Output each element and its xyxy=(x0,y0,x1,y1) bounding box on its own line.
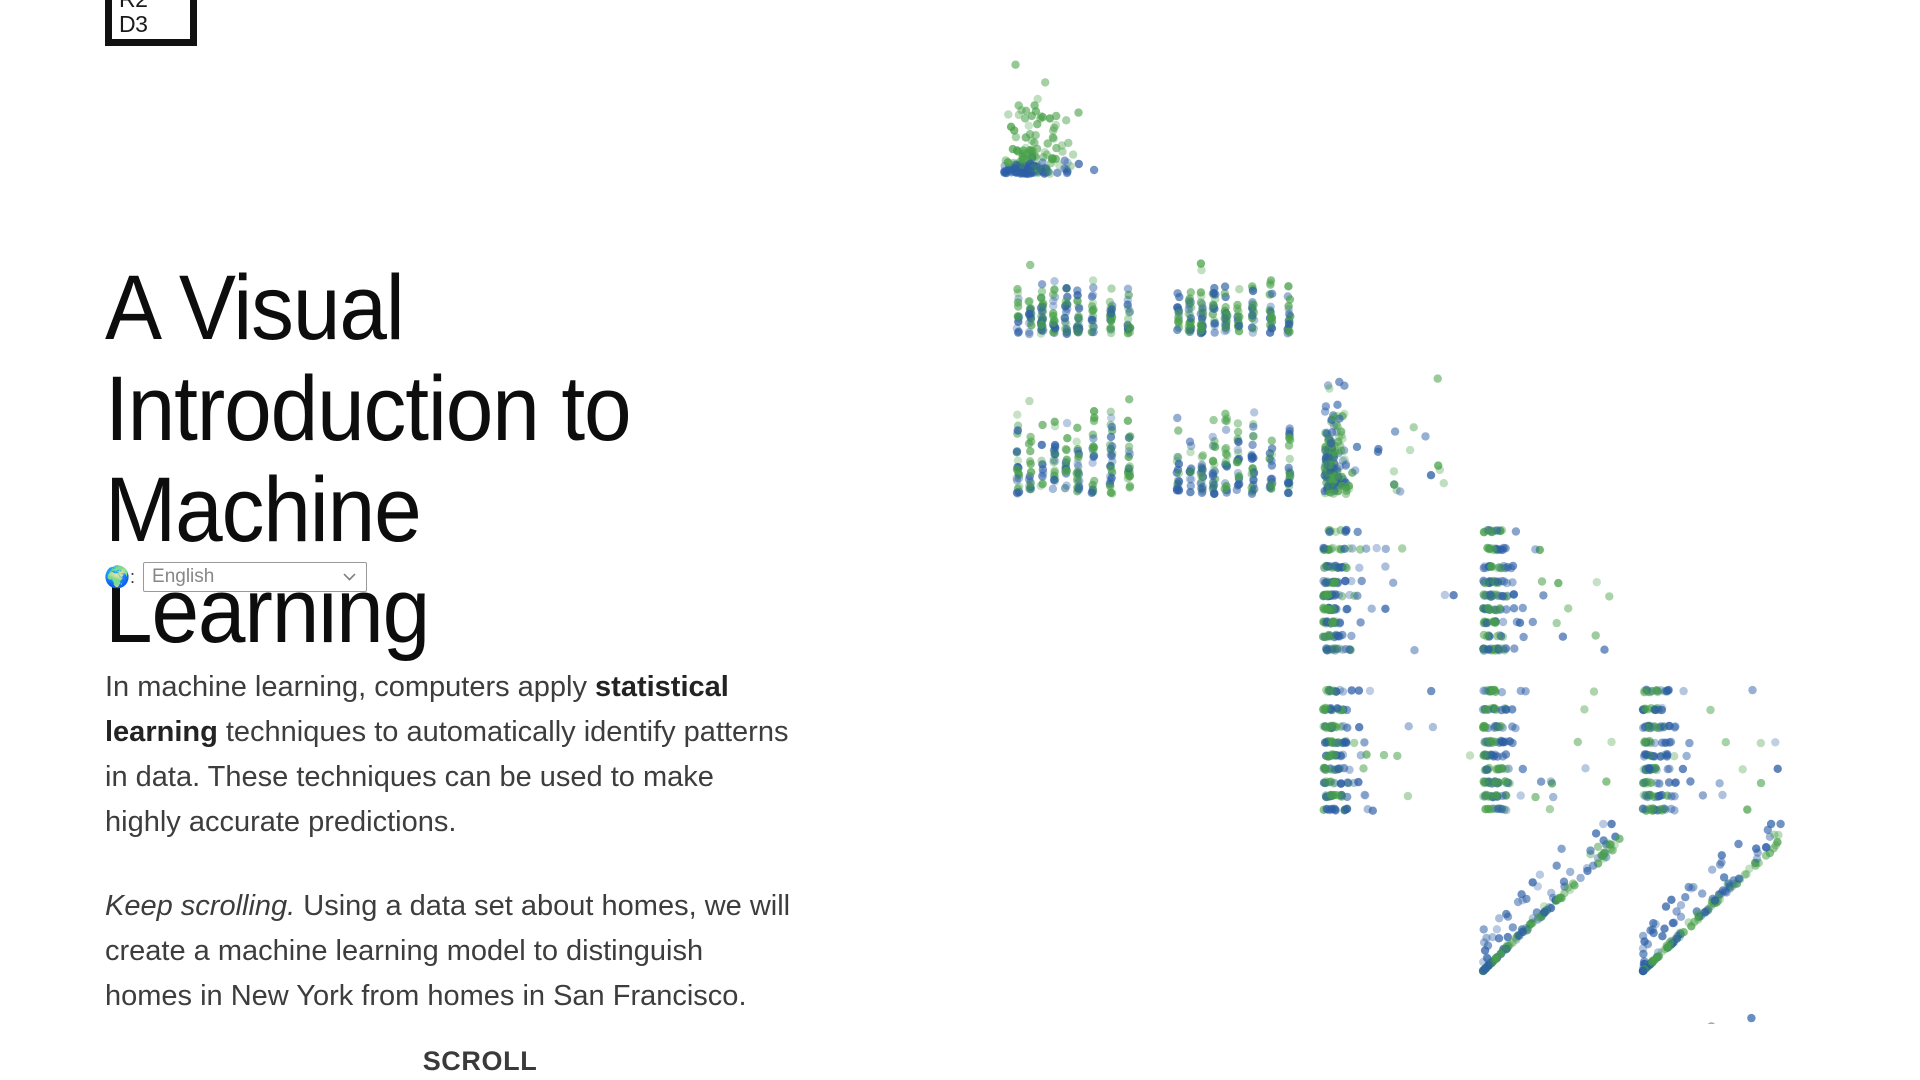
splom-point xyxy=(1249,432,1257,440)
splom-point xyxy=(1090,477,1098,485)
splom-point xyxy=(1485,645,1493,653)
splom-point xyxy=(1107,309,1115,317)
splom-point xyxy=(1340,382,1348,390)
splom-point xyxy=(1686,777,1694,785)
splom-point xyxy=(1088,307,1096,315)
splom-point xyxy=(1580,705,1588,713)
splom-point xyxy=(1483,955,1491,963)
splom-point xyxy=(1235,472,1243,480)
splom-point xyxy=(1649,806,1657,814)
splom-point xyxy=(1209,433,1217,441)
splom-point xyxy=(1013,489,1021,497)
splom-point xyxy=(1743,805,1751,813)
splom-point xyxy=(1698,889,1706,897)
splom-point xyxy=(1234,438,1242,446)
splom-point xyxy=(1041,78,1049,86)
splom-point xyxy=(1211,328,1219,336)
scatterplot-matrix xyxy=(1000,24,1920,1024)
intro-text-before: In machine learning, computers apply xyxy=(105,671,595,703)
splom-point xyxy=(1285,310,1293,318)
splom-point xyxy=(1038,441,1046,449)
splom-point xyxy=(1037,294,1045,302)
splom-point xyxy=(1249,287,1257,295)
splom-point xyxy=(1330,413,1338,421)
splom-point xyxy=(1235,285,1243,293)
splom-point xyxy=(1342,526,1350,534)
splom-point xyxy=(1062,481,1070,489)
splom-point xyxy=(1090,166,1098,174)
splom-point xyxy=(1062,445,1070,453)
splom-point xyxy=(1547,777,1555,785)
splom-point xyxy=(1483,765,1491,773)
splom-point xyxy=(1776,820,1784,828)
splom-point xyxy=(1665,686,1673,694)
splom-point xyxy=(1593,578,1601,586)
splom-point xyxy=(1390,467,1398,475)
splom-point xyxy=(1248,441,1256,449)
splom-point xyxy=(1327,737,1335,745)
splom-point xyxy=(1498,592,1506,600)
splom-point xyxy=(1322,777,1330,785)
splom-point xyxy=(1421,432,1429,440)
splom-point xyxy=(1062,284,1070,292)
splom-point xyxy=(1198,453,1206,461)
splom-point xyxy=(1639,944,1647,952)
splom-point xyxy=(1088,489,1096,497)
splom-point xyxy=(1360,791,1368,799)
splom-point xyxy=(1025,122,1033,130)
splom-point xyxy=(1707,1022,1715,1024)
splom-point xyxy=(1075,471,1083,479)
splom-point xyxy=(1481,579,1489,587)
splom-point xyxy=(1248,470,1256,478)
splom-point xyxy=(1050,124,1058,132)
splom-point xyxy=(1529,914,1537,922)
splom-point xyxy=(1039,315,1047,323)
splom-point xyxy=(1553,619,1561,627)
splom-point xyxy=(1063,434,1071,442)
splom-point xyxy=(1353,443,1361,451)
splom-point xyxy=(1534,882,1542,890)
splom-point xyxy=(1347,632,1355,640)
splom-point xyxy=(1564,604,1572,612)
splom-point xyxy=(1496,564,1504,572)
splom-point xyxy=(1498,688,1506,696)
splom-point xyxy=(1734,840,1742,848)
splom-point xyxy=(1510,604,1518,612)
splom-point xyxy=(1589,862,1597,870)
splom-point xyxy=(1410,423,1418,431)
splom-point xyxy=(1669,919,1677,927)
splom-point xyxy=(1355,686,1363,694)
splom-point xyxy=(1025,330,1033,338)
splom-point xyxy=(1393,752,1401,760)
splom-point xyxy=(1599,820,1607,828)
splom-point xyxy=(1655,792,1663,800)
splom-point xyxy=(1125,443,1133,451)
splom-point xyxy=(1360,738,1368,746)
splom-point xyxy=(1324,482,1332,490)
scroll-cue-label[interactable]: SCROLL xyxy=(105,1046,855,1077)
splom-point xyxy=(1073,438,1081,446)
splom-point xyxy=(1348,686,1356,694)
splom-point xyxy=(1685,739,1693,747)
splom-point xyxy=(1051,422,1059,430)
splom-point xyxy=(1488,563,1496,571)
splom-point xyxy=(1345,544,1353,552)
splom-point xyxy=(1497,706,1505,714)
splom-point xyxy=(1222,314,1230,322)
splom-point xyxy=(1063,419,1071,427)
splom-point xyxy=(1285,328,1293,336)
splom-point xyxy=(1038,303,1046,311)
splom-point xyxy=(1406,446,1414,454)
splom-point xyxy=(1333,465,1341,473)
splom-point xyxy=(1321,407,1329,415)
splom-point xyxy=(1250,408,1258,416)
splom-point xyxy=(1592,829,1600,837)
splom-point xyxy=(1026,261,1034,269)
splom-point xyxy=(1268,290,1276,298)
splom-point xyxy=(1687,922,1695,930)
splom-point xyxy=(1338,482,1346,490)
splom-point xyxy=(1682,752,1690,760)
splom-point xyxy=(1209,301,1217,309)
splom-point xyxy=(1661,739,1669,747)
splom-point xyxy=(1498,644,1506,652)
splom-point xyxy=(1013,285,1021,293)
splom-point xyxy=(1036,114,1044,122)
splom-point xyxy=(1126,328,1134,336)
splom-point xyxy=(1327,791,1335,799)
splom-point xyxy=(1331,806,1339,814)
language-select[interactable]: English xyxy=(143,562,367,592)
splom-point xyxy=(1007,168,1015,176)
splom-point xyxy=(1502,943,1510,951)
splom-point xyxy=(1602,777,1610,785)
splom-point xyxy=(1774,765,1782,773)
splom-point xyxy=(1186,328,1194,336)
splom-point xyxy=(1249,301,1257,309)
splom-point xyxy=(1222,323,1230,331)
splom-point xyxy=(1025,475,1033,483)
splom-point xyxy=(1075,304,1083,312)
splom-point xyxy=(1108,423,1116,431)
splom-point xyxy=(1343,605,1351,613)
splom-point xyxy=(1757,739,1765,747)
splom-point xyxy=(1268,480,1276,488)
splom-point xyxy=(1108,442,1116,450)
splom-point xyxy=(1645,765,1653,773)
splom-point xyxy=(1013,324,1021,332)
splom-point xyxy=(1267,317,1275,325)
scroll-paragraph: Keep scrolling. Using a data set about h… xyxy=(105,884,793,1019)
splom-point xyxy=(1496,765,1504,773)
splom-point xyxy=(1481,687,1489,695)
splom-point xyxy=(1022,133,1030,141)
language-picker[interactable]: 🌍 : English xyxy=(104,562,367,592)
splom-point xyxy=(1326,687,1334,695)
splom-point xyxy=(1559,633,1567,641)
splom-point xyxy=(1038,280,1046,288)
splom-point xyxy=(1607,738,1615,746)
splom-point xyxy=(1594,843,1602,851)
splom-point xyxy=(1380,751,1388,759)
splom-point xyxy=(1564,883,1572,891)
splom-point xyxy=(1649,919,1657,927)
splom-point xyxy=(1173,326,1181,334)
splom-point xyxy=(1681,893,1689,901)
splom-point xyxy=(1382,545,1390,553)
splom-point xyxy=(1557,894,1565,902)
splom-point xyxy=(1518,896,1526,904)
splom-point xyxy=(1197,288,1205,296)
splom-point xyxy=(1125,433,1133,441)
splom-point xyxy=(1679,687,1687,695)
splom-point xyxy=(1267,303,1275,311)
splom-point xyxy=(1687,884,1695,892)
splom-point xyxy=(1061,314,1069,322)
splom-point xyxy=(1124,285,1132,293)
splom-point xyxy=(1124,417,1132,425)
splom-canvas xyxy=(1000,24,1920,1024)
splom-point xyxy=(1221,485,1229,493)
splom-point xyxy=(1074,485,1082,493)
splom-point xyxy=(1049,319,1057,327)
splom-point xyxy=(1517,791,1525,799)
splom-point xyxy=(1007,123,1015,131)
splom-point xyxy=(1210,441,1218,449)
splom-point xyxy=(1351,466,1359,474)
narrative-column: A Visual Introduction to Machine Learnin… xyxy=(0,0,800,1080)
splom-point xyxy=(1089,299,1097,307)
splom-point xyxy=(1481,723,1489,731)
splom-point xyxy=(1539,591,1547,599)
splom-point xyxy=(1509,923,1517,931)
splom-point xyxy=(1338,792,1346,800)
splom-point xyxy=(1504,913,1512,921)
splom-point xyxy=(1699,791,1707,799)
splom-point xyxy=(1507,564,1515,572)
splom-point xyxy=(1670,792,1678,800)
splom-point xyxy=(1657,805,1665,813)
splom-point xyxy=(1480,631,1488,639)
splom-point xyxy=(1639,967,1647,975)
splom-point xyxy=(1546,805,1554,813)
splom-point xyxy=(1353,592,1361,600)
splom-point xyxy=(1497,722,1505,730)
splom-point xyxy=(1063,466,1071,474)
splom-point xyxy=(1197,298,1205,306)
splom-point xyxy=(1508,578,1516,586)
splom-point xyxy=(1235,322,1243,330)
splom-point xyxy=(1030,101,1038,109)
splom-point xyxy=(1324,631,1332,639)
splom-point xyxy=(1050,277,1058,285)
splom-point xyxy=(1069,150,1077,158)
splom-point xyxy=(1037,457,1045,465)
splom-point xyxy=(1342,564,1350,572)
splom-point xyxy=(1323,805,1331,813)
splom-point xyxy=(1039,469,1047,477)
splom-point xyxy=(1235,480,1243,488)
splom-point xyxy=(1517,687,1525,695)
splom-point xyxy=(1646,926,1654,934)
splom-point xyxy=(1640,738,1648,746)
splom-point xyxy=(1487,528,1495,536)
splom-point xyxy=(1653,724,1661,732)
splom-point xyxy=(1531,545,1539,553)
title-line-2: Introduction to xyxy=(105,358,630,460)
splom-point xyxy=(1233,458,1241,466)
splom-point xyxy=(1493,925,1501,933)
splom-point xyxy=(1268,461,1276,469)
splom-point xyxy=(1640,688,1648,696)
splom-point xyxy=(1330,579,1338,587)
splom-point xyxy=(1480,938,1488,946)
splom-point xyxy=(1187,288,1195,296)
globe-icon: 🌍 xyxy=(104,567,128,588)
splom-point xyxy=(1041,148,1049,156)
splom-point xyxy=(1673,935,1681,943)
splom-point xyxy=(1574,738,1582,746)
splom-point xyxy=(1126,462,1134,470)
splom-point xyxy=(1197,484,1205,492)
splom-point xyxy=(1545,903,1553,911)
splom-point xyxy=(1641,750,1649,758)
splom-point xyxy=(1337,447,1345,455)
splom-point xyxy=(1359,764,1367,772)
splom-point xyxy=(1510,590,1518,598)
splom-point xyxy=(1327,722,1335,730)
splom-point xyxy=(1032,131,1040,139)
splom-point xyxy=(1049,485,1057,493)
splom-point xyxy=(1075,160,1083,168)
splom-point xyxy=(1335,765,1343,773)
splom-point xyxy=(1186,448,1194,456)
title-line-1: A Visual xyxy=(105,257,404,359)
splom-point xyxy=(1004,158,1012,166)
splom-point xyxy=(1600,646,1608,654)
splom-point xyxy=(1320,591,1328,599)
splom-point xyxy=(1050,450,1058,458)
splom-point xyxy=(1268,450,1276,458)
splom-point xyxy=(1074,452,1082,460)
splom-point xyxy=(1250,324,1258,332)
splom-point xyxy=(1498,577,1506,585)
splom-point xyxy=(1485,738,1493,746)
splom-point xyxy=(1013,447,1021,455)
splom-point xyxy=(1074,327,1082,335)
splom-point xyxy=(1073,424,1081,432)
splom-point xyxy=(1013,411,1021,419)
splom-point xyxy=(1434,461,1442,469)
splom-point xyxy=(1449,591,1457,599)
splom-point xyxy=(1772,841,1780,849)
splom-point xyxy=(1125,395,1133,403)
splom-point xyxy=(1198,324,1206,332)
splom-point xyxy=(1605,592,1613,600)
splom-point xyxy=(1014,312,1022,320)
splom-point xyxy=(1060,164,1068,172)
splom-point xyxy=(1173,414,1181,422)
splom-point xyxy=(1221,282,1229,290)
splom-point xyxy=(1519,633,1527,641)
splom-point xyxy=(1026,146,1034,154)
splom-point xyxy=(1725,879,1733,887)
splom-point xyxy=(1434,374,1442,382)
splom-point xyxy=(1518,925,1526,933)
splom-point xyxy=(1325,453,1333,461)
splom-point xyxy=(1107,284,1115,292)
splom-point xyxy=(1284,282,1292,290)
splom-point xyxy=(1325,384,1333,392)
splom-point xyxy=(1073,286,1081,294)
splom-point xyxy=(1486,805,1494,813)
splom-point xyxy=(1506,737,1514,745)
splom-point xyxy=(1501,777,1509,785)
splom-point xyxy=(1249,454,1257,462)
splom-point xyxy=(1331,619,1339,627)
splom-point xyxy=(1285,441,1293,449)
splom-point xyxy=(1124,301,1132,309)
splom-point xyxy=(1519,604,1527,612)
splom-point xyxy=(1323,605,1331,613)
splom-point xyxy=(1088,321,1096,329)
splom-point xyxy=(1175,486,1183,494)
splom-point xyxy=(1248,311,1256,319)
splom-point xyxy=(1012,133,1020,141)
splom-point xyxy=(1607,820,1615,828)
splom-point xyxy=(1429,723,1437,731)
splom-point xyxy=(1235,313,1243,321)
splom-point xyxy=(1374,445,1382,453)
splom-point xyxy=(1519,765,1527,773)
splom-point xyxy=(1410,646,1418,654)
splom-point xyxy=(1677,913,1685,921)
splom-point xyxy=(1210,320,1218,328)
splom-point xyxy=(1106,324,1114,332)
splom-point xyxy=(1331,779,1339,787)
splom-point xyxy=(1538,577,1546,585)
splom-point xyxy=(1124,315,1132,323)
splom-point xyxy=(1513,618,1521,626)
splom-point xyxy=(1529,618,1537,626)
splom-point xyxy=(1566,868,1574,876)
splom-point xyxy=(1498,546,1506,554)
splom-point xyxy=(1285,434,1293,442)
splom-point xyxy=(1329,490,1337,498)
splom-point xyxy=(1488,933,1496,941)
splom-point xyxy=(1648,752,1656,760)
splom-point xyxy=(1062,116,1070,124)
splom-point xyxy=(1342,460,1350,468)
splom-point xyxy=(1025,397,1033,405)
splom-point xyxy=(1770,831,1778,839)
splom-point xyxy=(1640,937,1648,945)
splom-point xyxy=(1480,750,1488,758)
splom-point xyxy=(1391,427,1399,435)
splom-point xyxy=(1389,579,1397,587)
splom-point xyxy=(1186,488,1194,496)
splom-point xyxy=(1718,851,1726,859)
splom-point xyxy=(1050,458,1058,466)
splom-point xyxy=(1486,591,1494,599)
splom-point xyxy=(1027,468,1035,476)
splom-point xyxy=(1715,779,1723,787)
splom-point xyxy=(1441,591,1449,599)
language-separator: : xyxy=(130,567,135,588)
